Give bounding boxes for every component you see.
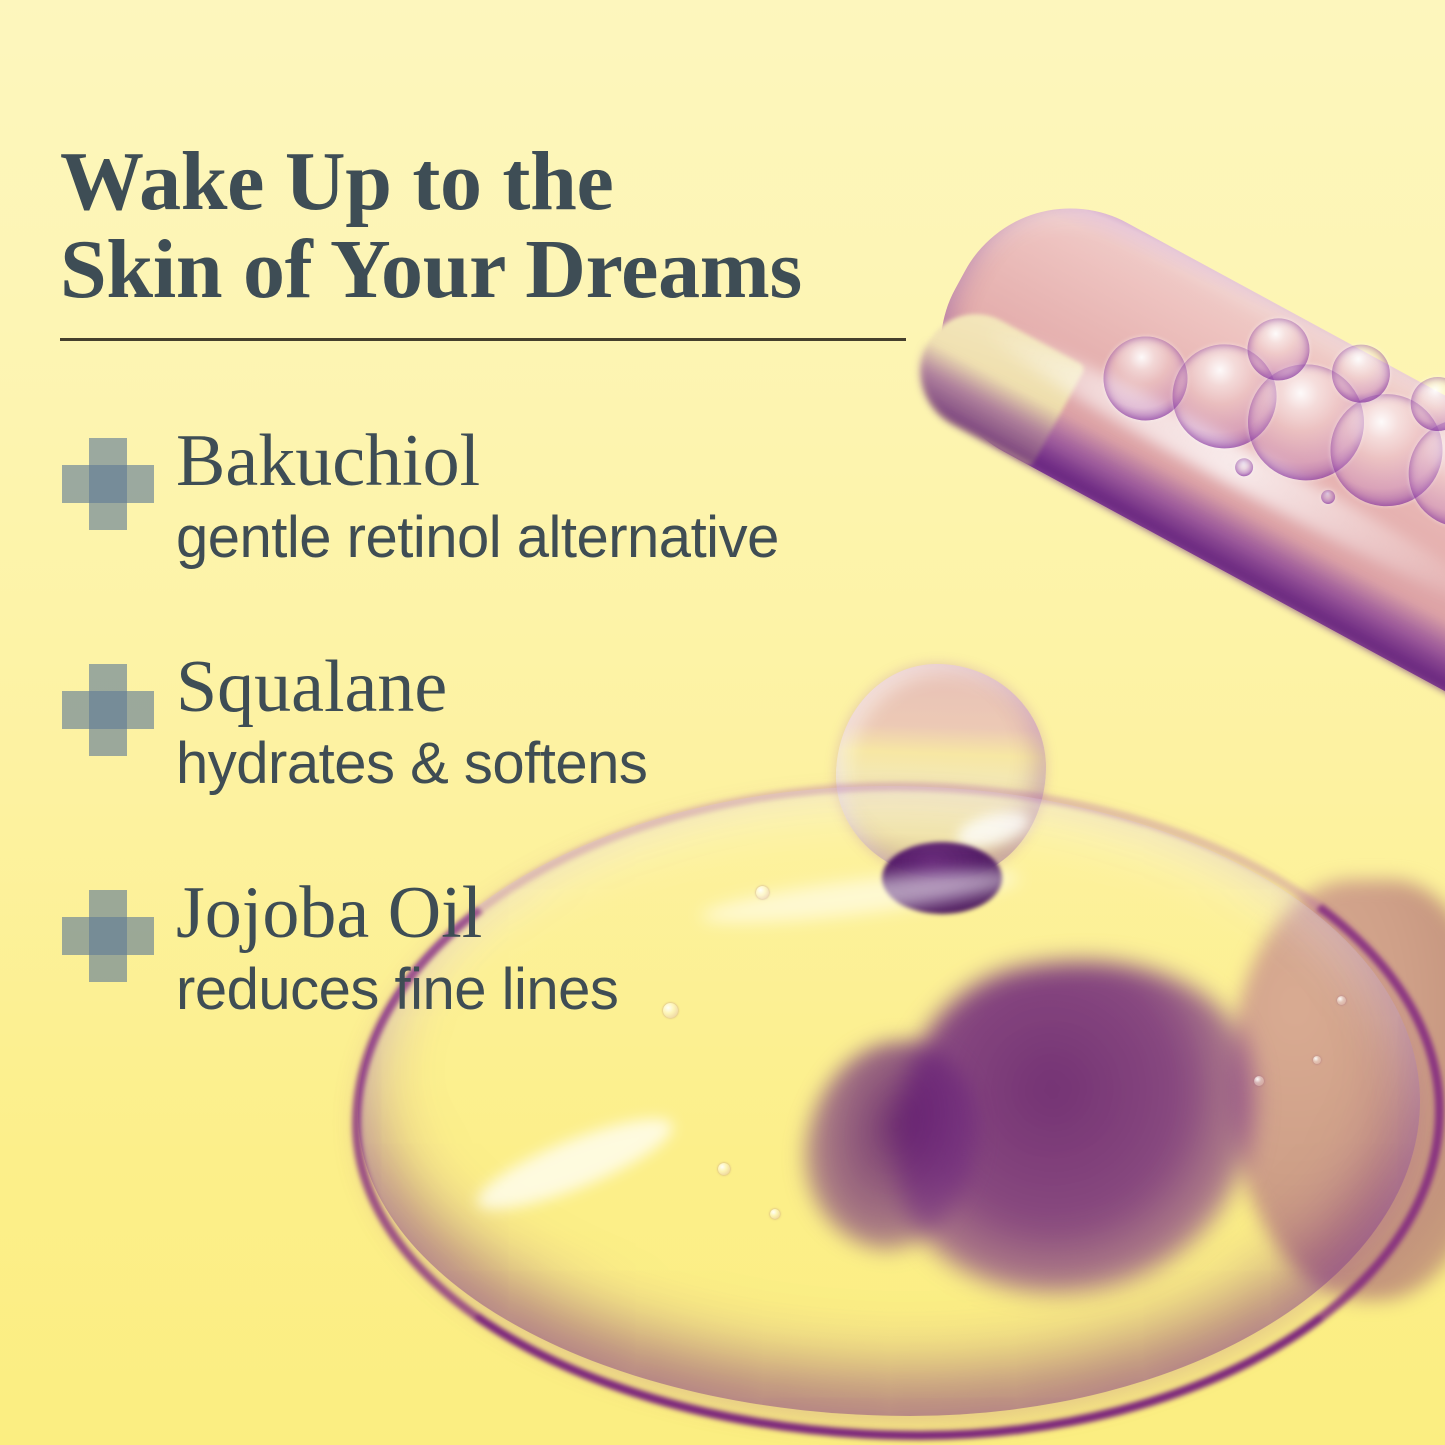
benefit-description: gentle retinol alternative: [176, 508, 1040, 569]
plus-icon: [62, 438, 154, 530]
product-feature-graphic: Wake Up to the Skin of Your Dreams Bakuc…: [0, 0, 1445, 1445]
list-item: Squalane hydrates & softens: [60, 646, 1040, 816]
benefit-description: reduces fine lines: [176, 960, 1040, 1021]
benefit-title: Jojoba Oil: [176, 872, 1040, 950]
plus-icon: [62, 664, 154, 756]
benefit-description: hydrates & softens: [176, 734, 1040, 795]
list-item: Jojoba Oil reduces fine lines: [60, 872, 1040, 1042]
plus-icon: [62, 890, 154, 982]
plus-icon-vertical-bar: [89, 438, 127, 530]
text-overlay: Wake Up to the Skin of Your Dreams Bakuc…: [0, 0, 1445, 1445]
list-item: Bakuchiol gentle retinol alternative: [60, 420, 1040, 590]
horizontal-divider: [60, 338, 906, 341]
benefits-list: Bakuchiol gentle retinol alternative Squ…: [60, 420, 1040, 1098]
headline-line-1: Wake Up to the: [60, 138, 960, 226]
benefit-title: Squalane: [176, 646, 1040, 724]
plus-icon-vertical-bar: [89, 890, 127, 982]
page-title: Wake Up to the Skin of Your Dreams: [60, 138, 960, 314]
benefit-title: Bakuchiol: [176, 420, 1040, 498]
plus-icon-vertical-bar: [89, 664, 127, 756]
headline-line-2: Skin of Your Dreams: [60, 226, 960, 314]
